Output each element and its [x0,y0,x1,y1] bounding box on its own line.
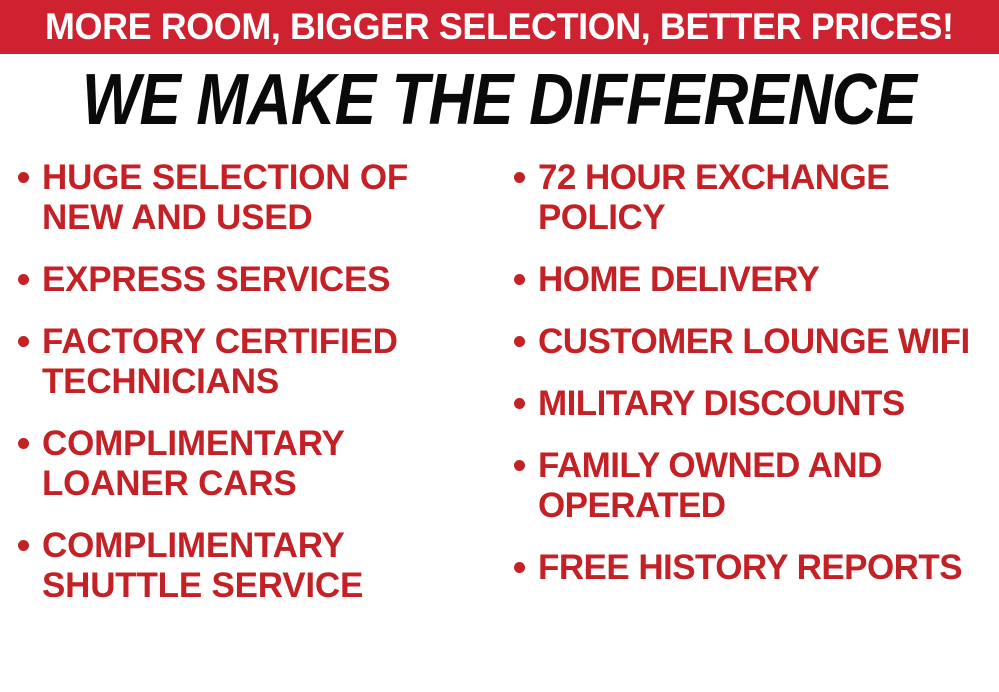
benefit-item: FAMILY OWNED AND OPERATED [514,446,999,526]
benefit-label: FACTORY CERTIFIED TECHNICIANS [42,322,496,402]
bullet-dot-icon [514,336,525,347]
bullet-dot-icon [514,398,525,409]
benefit-label: 72 HOUR EXCHANGE POLICY [538,158,999,238]
benefit-label: MILITARY DISCOUNTS [538,384,999,424]
dealership-benefits-poster: MORE ROOM, BIGGER SELECTION, BETTER PRIC… [0,0,999,692]
benefit-item: COMPLIMENTARY LOANER CARS [18,424,496,504]
promo-banner: MORE ROOM, BIGGER SELECTION, BETTER PRIC… [0,0,999,54]
benefit-item: EXPRESS SERVICES [18,260,496,300]
bullet-dot-icon [514,172,525,183]
benefit-item: FACTORY CERTIFIED TECHNICIANS [18,322,496,402]
benefit-label: COMPLIMENTARY SHUTTLE SERVICE [42,526,496,606]
benefit-label: COMPLIMENTARY LOANER CARS [42,424,496,504]
bullet-dot-icon [18,540,29,551]
benefit-item: MILITARY DISCOUNTS [514,384,999,424]
benefit-label: HOME DELIVERY [538,260,999,300]
benefit-item: 72 HOUR EXCHANGE POLICY [514,158,999,238]
benefits-column-right: 72 HOUR EXCHANGE POLICY HOME DELIVERY CU… [500,158,999,610]
headline: WE MAKE THE DIFFERENCE [0,62,999,138]
benefit-item: CUSTOMER LOUNGE WIFI [514,322,999,362]
benefit-item: COMPLIMENTARY SHUTTLE SERVICE [18,526,496,606]
benefits-columns: HUGE SELECTION OF NEW AND USED EXPRESS S… [0,158,999,692]
benefit-item: FREE HISTORY REPORTS [514,548,999,588]
bullet-dot-icon [18,438,29,449]
promo-banner-text: MORE ROOM, BIGGER SELECTION, BETTER PRIC… [45,8,954,47]
benefit-label: CUSTOMER LOUNGE WIFI [538,322,999,362]
bullet-dot-icon [514,274,525,285]
benefit-label: FREE HISTORY REPORTS [538,548,999,588]
benefits-column-left: HUGE SELECTION OF NEW AND USED EXPRESS S… [0,158,500,628]
benefit-label: FAMILY OWNED AND OPERATED [538,446,999,526]
benefit-item: HOME DELIVERY [514,260,999,300]
benefit-item: HUGE SELECTION OF NEW AND USED [18,158,496,238]
bullet-dot-icon [18,274,29,285]
bullet-dot-icon [514,460,525,471]
bullet-dot-icon [18,172,29,183]
benefit-label: HUGE SELECTION OF NEW AND USED [42,158,496,238]
bullet-dot-icon [18,336,29,347]
bullet-dot-icon [514,562,525,573]
benefit-label: EXPRESS SERVICES [42,260,496,300]
headline-text: WE MAKE THE DIFFERENCE [82,62,916,138]
